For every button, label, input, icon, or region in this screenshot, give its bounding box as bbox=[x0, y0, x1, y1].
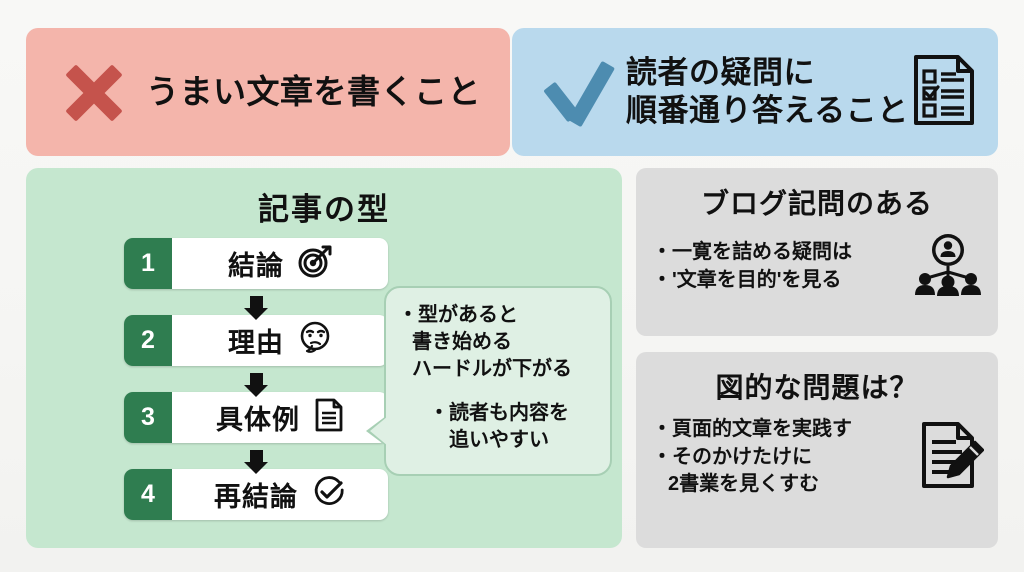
step-body: 理由 bbox=[172, 315, 388, 366]
step-number: 1 bbox=[124, 238, 172, 289]
side-panel-bullets: ・一寛を詰める疑問は ・'文章を目的'を見る bbox=[652, 239, 906, 294]
step-label: 再結論 bbox=[214, 475, 298, 514]
step-number: 4 bbox=[124, 469, 172, 520]
callout-item: ・型があると 書き始める ハードルが下がる bbox=[398, 302, 600, 382]
side-panel-bullet: ・'文章を目的'を見る bbox=[652, 267, 906, 295]
step-item-2[interactable]: 2 理由 bbox=[124, 315, 388, 366]
document-icon bbox=[314, 398, 344, 437]
banner-good-practice: 読者の疑問に 順番通り答えること bbox=[512, 28, 998, 156]
thinking-face-icon bbox=[298, 321, 332, 360]
side-panel-blog-questions: ブログ記問のある ・一寛を詰める疑問は ・'文章を目的'を見る bbox=[636, 168, 998, 336]
step-label: 理由 bbox=[228, 321, 284, 360]
callout-item: ・読者も内容を 追いやすい bbox=[398, 400, 600, 454]
step-number: 2 bbox=[124, 315, 172, 366]
step-arrow-1-2 bbox=[124, 289, 388, 315]
side-panel-bullet: ・頁面的文章を実践す bbox=[652, 416, 912, 444]
side-panel-bullet: ・一寛を詰める疑問は bbox=[652, 239, 906, 267]
x-mark-icon bbox=[56, 54, 132, 130]
step-body: 結論 bbox=[172, 238, 388, 289]
infographic-canvas: うまい文章を書くこと 読者の疑問に 順番通り答えること 記事の型 bbox=[0, 0, 1024, 572]
article-steps-list: 1 結論 2 bbox=[124, 238, 388, 520]
document-edit-icon bbox=[918, 420, 984, 495]
banner-good-text: 読者の疑問に 順番通り答えること bbox=[626, 54, 909, 130]
check-circle-icon bbox=[312, 475, 346, 514]
check-mark-icon bbox=[538, 56, 616, 128]
side-panel-title: 図的な問題は？ bbox=[636, 352, 998, 406]
article-template-title: 記事の型 bbox=[26, 168, 622, 229]
step-label: 具体例 bbox=[216, 398, 300, 437]
target-audience-icon bbox=[912, 232, 984, 301]
checklist-document-icon bbox=[912, 53, 976, 132]
side-panel-visual-issue: 図的な問題は？ ・頁面的文章を実践す ・そのかけたけに 2書業を見くすむ bbox=[636, 352, 998, 548]
banner-bad-practice: うまい文章を書くこと bbox=[26, 28, 510, 156]
step-item-3[interactable]: 3 具体例 bbox=[124, 392, 388, 443]
step-body: 具体例 bbox=[172, 392, 388, 443]
side-panel-title: ブログ記問のある bbox=[636, 168, 998, 222]
target-icon bbox=[298, 244, 332, 283]
benefits-callout: ・型があると 書き始める ハードルが下がる ・読者も内容を 追いやすい bbox=[384, 286, 612, 476]
step-arrow-3-4 bbox=[124, 443, 388, 469]
side-panel-body: ・頁面的文章を実践す ・そのかけたけに 2書業を見くすむ bbox=[636, 406, 998, 499]
side-panel-bullets: ・頁面的文章を実践す ・そのかけたけに 2書業を見くすむ bbox=[652, 416, 912, 499]
step-arrow-2-3 bbox=[124, 366, 388, 392]
side-panel-bullet: ・そのかけたけに 2書業を見くすむ bbox=[652, 444, 912, 499]
banner-bad-text: うまい文章を書くこと bbox=[146, 72, 481, 112]
step-item-1[interactable]: 1 結論 bbox=[124, 238, 388, 289]
step-body: 再結論 bbox=[172, 469, 388, 520]
step-item-4[interactable]: 4 再結論 bbox=[124, 469, 388, 520]
side-panel-body: ・一寛を詰める疑問は ・'文章を目的'を見る bbox=[636, 222, 998, 301]
step-label: 結論 bbox=[228, 244, 284, 283]
step-number: 3 bbox=[124, 392, 172, 443]
